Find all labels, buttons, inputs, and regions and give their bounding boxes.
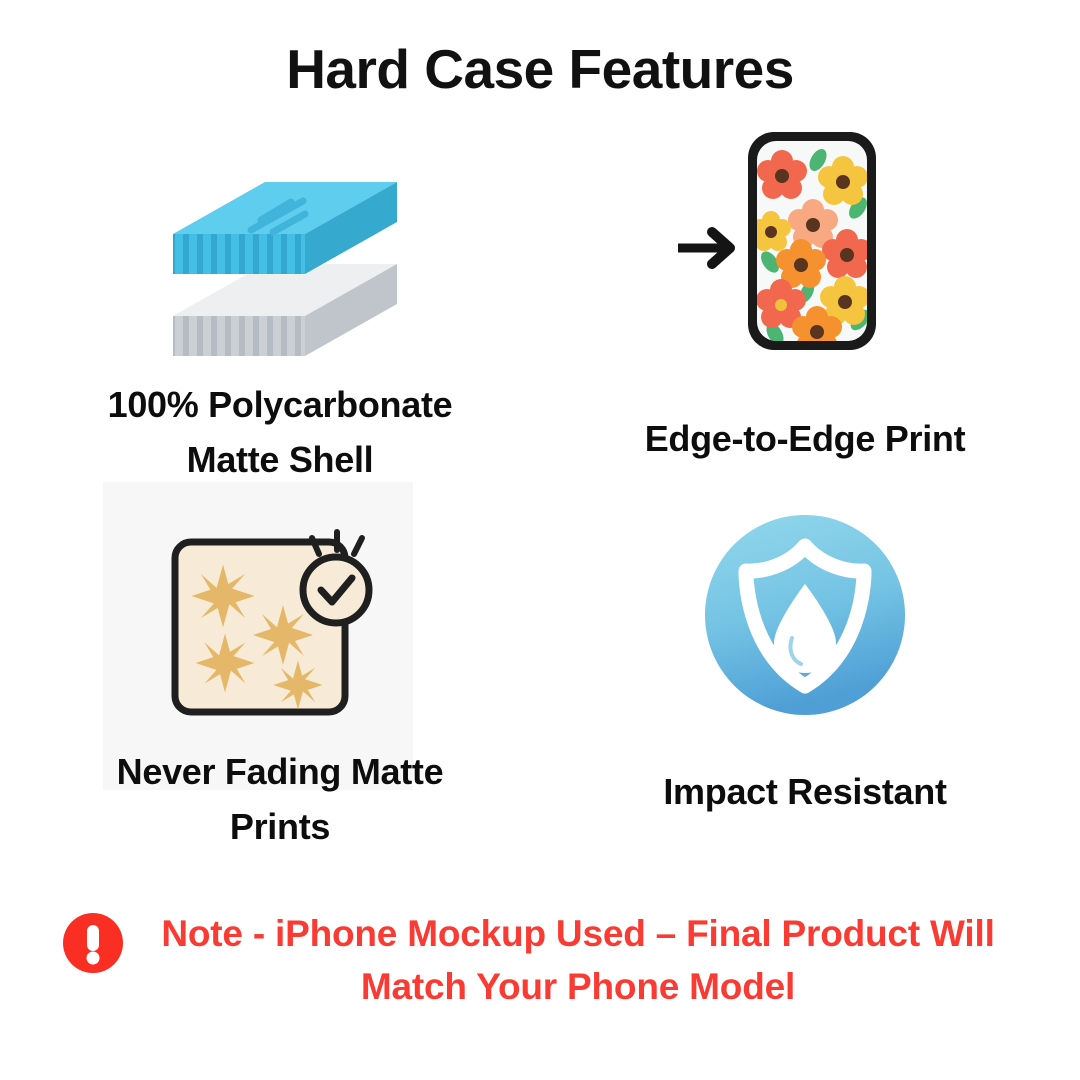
feature-edge-to-edge-print <box>560 120 1050 410</box>
feature-infographic: Hard Case Features <box>0 0 1080 1080</box>
feature-impact-resistant <box>560 510 1050 750</box>
feature-label-impact-resistant: Impact Resistant <box>560 765 1050 820</box>
note-banner: Note - iPhone Mockup Used – Final Produc… <box>0 908 1080 1014</box>
arrow-right-icon <box>678 232 730 264</box>
stacked-layers-icon <box>155 168 415 393</box>
exclamation-circle-icon <box>62 912 124 974</box>
feature-label-edge-to-edge-print: Edge-to-Edge Print <box>560 412 1050 467</box>
page-title: Hard Case Features <box>0 38 1080 101</box>
floral-phone-case-icon <box>670 120 930 375</box>
note-text: Note - iPhone Mockup Used – Final Produc… <box>138 908 1018 1014</box>
feature-never-fading-prints <box>35 500 525 750</box>
shield-droplet-icon <box>700 510 910 725</box>
check-circle-icon <box>303 557 369 623</box>
matte-sparkle-check-icon <box>155 510 415 745</box>
feature-label-polycarbonate-shell: 100% Polycarbonate Matte Shell <box>35 378 525 487</box>
feature-label-never-fading-prints: Never Fading Matte Prints <box>35 745 525 854</box>
